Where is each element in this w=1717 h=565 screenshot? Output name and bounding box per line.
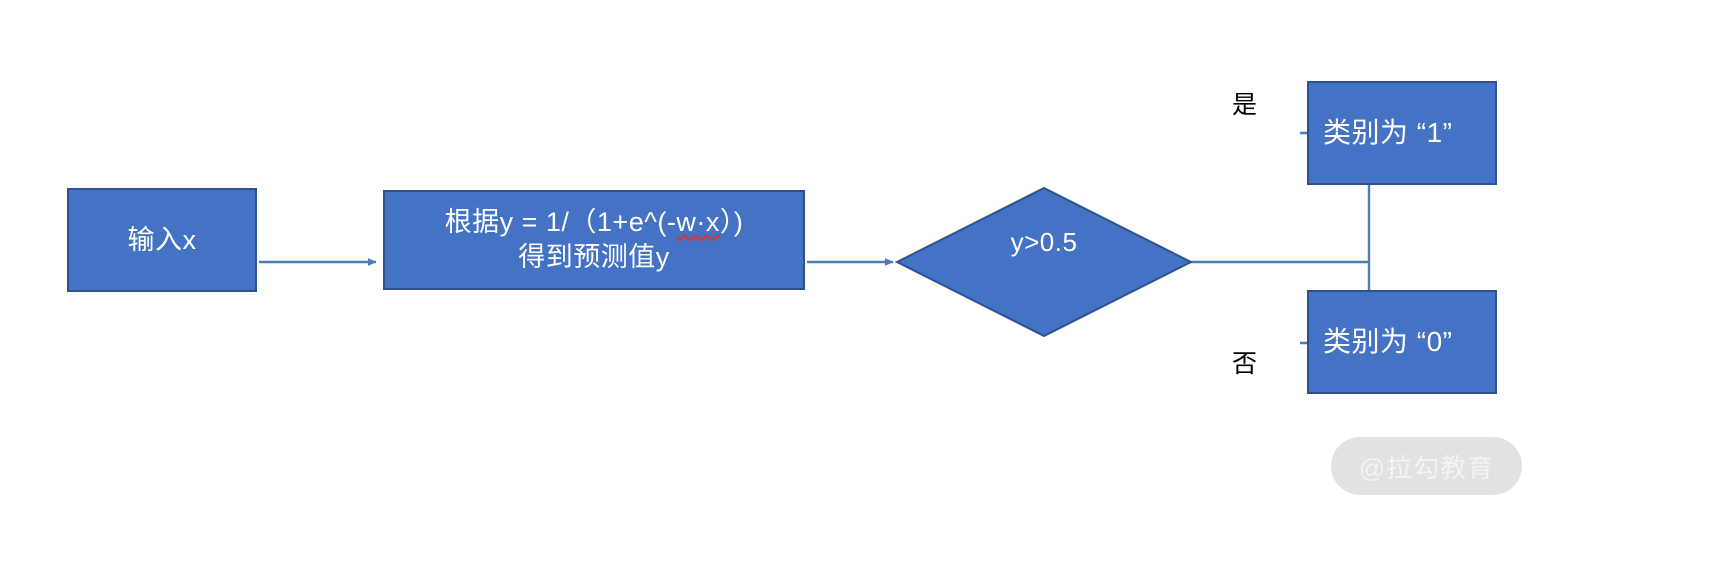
node-input-label: 输入x [128,223,197,258]
node-input[interactable]: 输入x [67,188,257,292]
watermark-text: @拉勾教育 [1359,448,1494,485]
flowchart-canvas: 输入x 根据y = 1/（1+e^(-w·x）) 得到预测值y y>0.5 是 … [0,0,1717,565]
node-decision-label: y>0.5 [897,168,1191,316]
branch-label-no: 否 [1232,352,1257,377]
node-class-one-label: 类别为 “1” [1323,115,1453,151]
node-class-one[interactable]: 类别为 “1” [1307,81,1497,185]
formula-spellcheck-term: w·x [676,205,720,240]
node-decision[interactable]: y>0.5 [897,168,1191,316]
watermark-badge: @拉勾教育 [1331,437,1522,495]
formula-suffix: ）) [720,207,744,237]
node-formula-line-1: 根据y = 1/（1+e^(-w·x）) [445,205,744,240]
formula-prefix: 根据y = 1/（1+e^(- [445,207,677,237]
node-class-zero[interactable]: 类别为 “0” [1307,290,1497,394]
node-class-zero-label: 类别为 “0” [1323,324,1453,360]
node-formula[interactable]: 根据y = 1/（1+e^(-w·x）) 得到预测值y [383,190,805,290]
node-formula-line-2: 得到预测值y [518,240,670,275]
branch-label-yes: 是 [1232,93,1257,118]
